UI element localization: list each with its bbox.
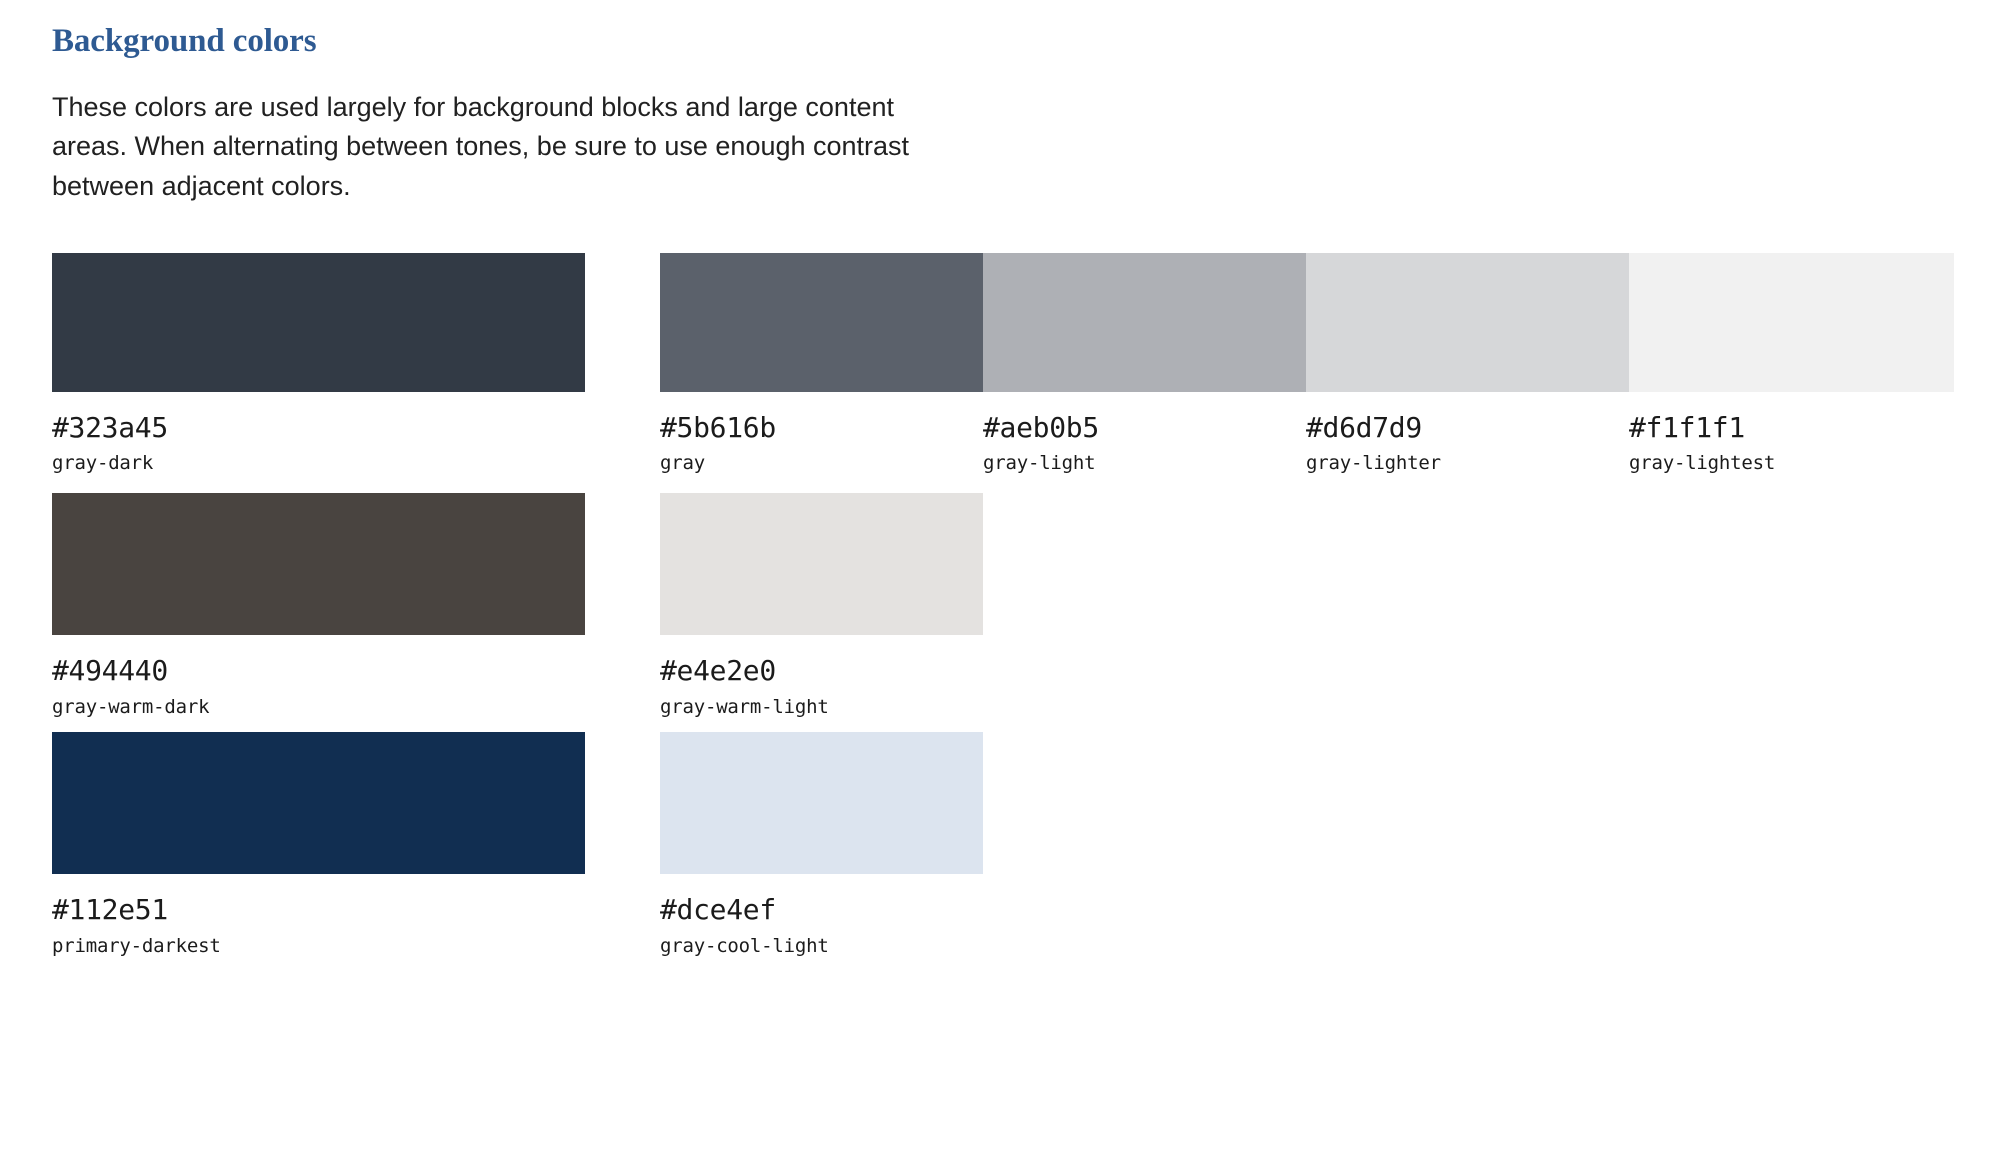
swatch-hex-value: #5b616b xyxy=(660,413,983,444)
swatch-color-block xyxy=(660,253,983,392)
color-swatch[interactable]: #5b616b gray xyxy=(660,253,983,476)
color-swatch[interactable]: #494440 gray-warm-dark xyxy=(52,493,585,719)
swatch-group-right: #5b616b gray #aeb0b5 gray-light #d6d7d9 xyxy=(660,253,1954,476)
swatch-meta: #dce4ef gray-cool-light xyxy=(660,874,983,958)
swatch-meta: #5b616b gray xyxy=(660,392,983,476)
swatch-hex-value: #494440 xyxy=(52,656,585,687)
swatch-color-block xyxy=(1306,253,1629,392)
swatch-token-name: gray-dark xyxy=(52,453,585,475)
swatch-row: #494440 gray-warm-dark #e4e2e0 gray-warm… xyxy=(0,493,1998,719)
swatch-meta: #d6d7d9 gray-lighter xyxy=(1306,392,1629,476)
section-header: Background colors These colors are used … xyxy=(0,0,1998,207)
swatch-token-name: gray-cool-light xyxy=(660,936,983,958)
swatch-meta: #e4e2e0 gray-warm-light xyxy=(660,635,983,719)
swatch-meta: #f1f1f1 gray-lightest xyxy=(1629,392,1954,476)
swatch-color-block xyxy=(1629,253,1954,392)
color-swatch[interactable]: #d6d7d9 gray-lighter xyxy=(1306,253,1629,476)
swatch-meta: #323a45 gray-dark xyxy=(52,392,585,476)
swatch-group-right: #dce4ef gray-cool-light xyxy=(660,732,1954,958)
swatch-token-name: gray xyxy=(660,453,983,475)
color-swatch-grid: #323a45 gray-dark #5b616b gray #aeb xyxy=(0,253,1998,958)
swatch-row: #323a45 gray-dark #5b616b gray #aeb xyxy=(0,253,1998,476)
swatch-token-name: gray-light xyxy=(983,453,1306,475)
swatch-meta: #aeb0b5 gray-light xyxy=(983,392,1306,476)
color-swatch[interactable]: #aeb0b5 gray-light xyxy=(983,253,1306,476)
swatch-meta: #494440 gray-warm-dark xyxy=(52,635,585,719)
swatch-color-block xyxy=(660,732,983,874)
swatch-color-block xyxy=(52,253,585,392)
section-description: These colors are used largely for backgr… xyxy=(52,88,1062,207)
swatch-token-name: primary-darkest xyxy=(52,936,585,958)
swatch-hex-value: #dce4ef xyxy=(660,895,983,926)
swatch-hex-value: #323a45 xyxy=(52,413,585,444)
swatch-hex-value: #112e51 xyxy=(52,895,585,926)
swatch-hex-value: #d6d7d9 xyxy=(1306,413,1629,444)
swatch-token-name: gray-warm-light xyxy=(660,697,983,719)
swatch-meta: #112e51 primary-darkest xyxy=(52,874,585,958)
swatch-color-block xyxy=(983,253,1306,392)
swatch-token-name: gray-lighter xyxy=(1306,453,1629,475)
color-swatch[interactable]: #112e51 primary-darkest xyxy=(52,732,585,958)
swatch-hex-value: #f1f1f1 xyxy=(1629,413,1954,444)
swatch-row: #112e51 primary-darkest #dce4ef gray-coo… xyxy=(0,732,1998,958)
color-swatch[interactable]: #323a45 gray-dark xyxy=(52,253,585,476)
swatch-group-left: #323a45 gray-dark xyxy=(52,253,585,476)
swatch-group-left: #112e51 primary-darkest xyxy=(52,732,585,958)
swatch-token-name: gray-lightest xyxy=(1629,453,1954,475)
swatch-color-block xyxy=(52,732,585,874)
background-colors-page: Background colors These colors are used … xyxy=(0,0,1998,1154)
swatch-group-right: #e4e2e0 gray-warm-light xyxy=(660,493,1954,719)
swatch-hex-value: #aeb0b5 xyxy=(983,413,1306,444)
color-swatch[interactable]: #e4e2e0 gray-warm-light xyxy=(660,493,983,719)
swatch-token-name: gray-warm-dark xyxy=(52,697,585,719)
swatch-group-left: #494440 gray-warm-dark xyxy=(52,493,585,719)
color-swatch[interactable]: #dce4ef gray-cool-light xyxy=(660,732,983,958)
swatch-color-block xyxy=(52,493,585,635)
color-swatch[interactable]: #f1f1f1 gray-lightest xyxy=(1629,253,1954,476)
swatch-color-block xyxy=(660,493,983,635)
swatch-hex-value: #e4e2e0 xyxy=(660,656,983,687)
page-title: Background colors xyxy=(52,22,1998,62)
